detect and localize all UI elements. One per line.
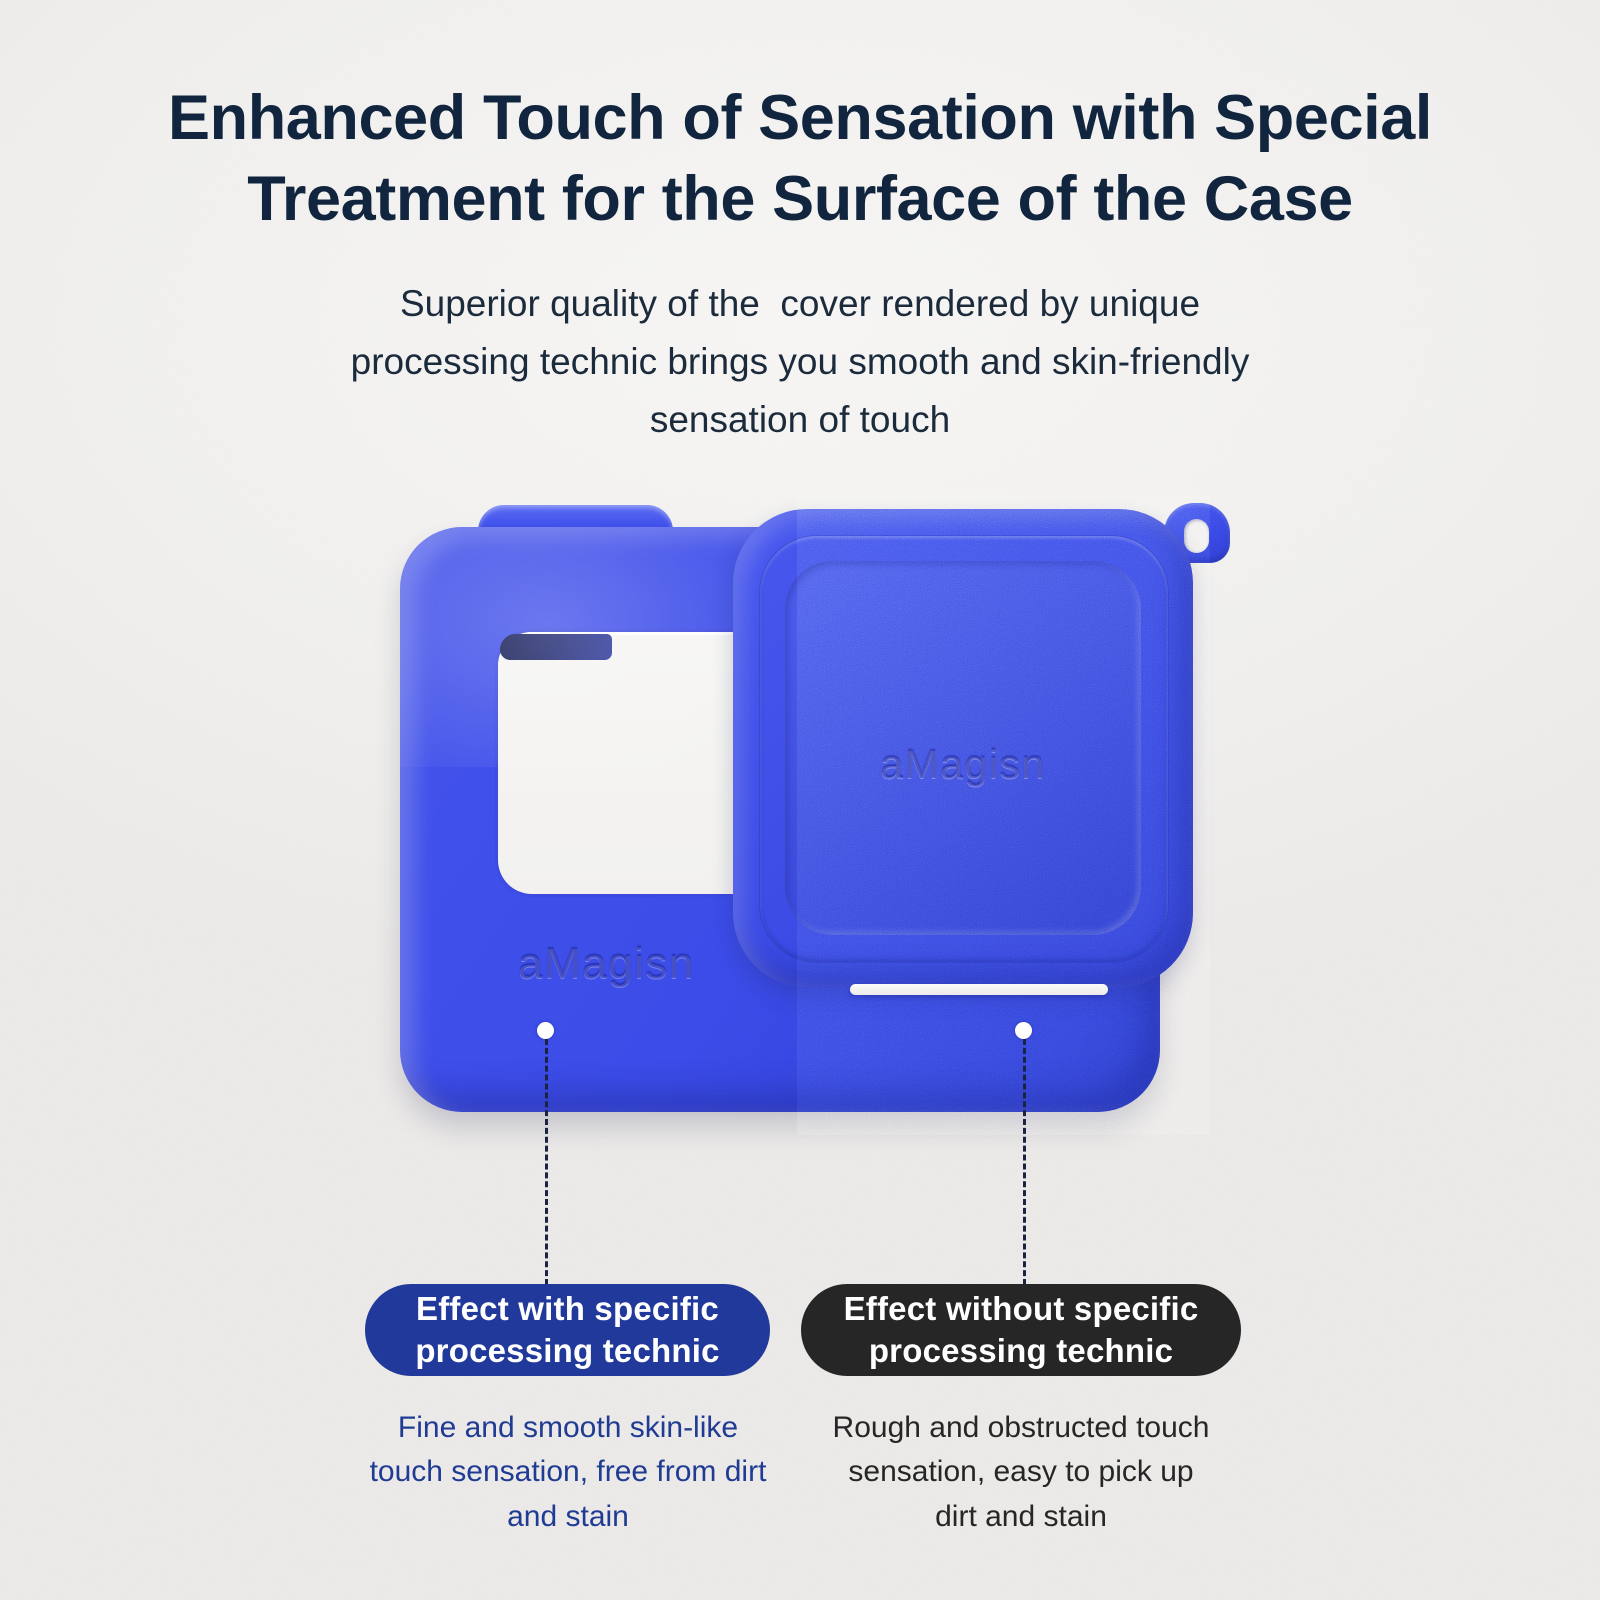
caption-bad-line-3: dirt and stain: [790, 1495, 1252, 1539]
page-subtitle: Superior quality of the cover rendered b…: [210, 275, 1390, 448]
caption-bad-line-1: Rough and obstructed touch: [790, 1406, 1252, 1450]
page-subtitle-line-2: processing technic brings you smooth and…: [210, 333, 1390, 391]
callout-dot-rough: [1015, 1022, 1032, 1039]
caption-good-line-1: Fine and smooth skin-like: [322, 1406, 814, 1450]
callout-line-smooth: [545, 1039, 548, 1285]
caption-smooth-surface: Fine and smooth skin-like touch sensatio…: [322, 1406, 814, 1539]
page-title: Enhanced Touch of Sensation with Special…: [135, 78, 1465, 239]
rough-surface-half: [797, 495, 1210, 1135]
infographic-page: Enhanced Touch of Sensation with Special…: [0, 0, 1600, 1600]
header: Enhanced Touch of Sensation with Special…: [0, 78, 1600, 448]
badge-effect-with-processing[interactable]: Effect with specific processing technic: [365, 1284, 770, 1376]
rough-texture-noise: [797, 495, 1210, 1135]
rough-surface-inner: [797, 495, 1210, 1135]
caption-bad-line-2: sensation, easy to pick up: [790, 1450, 1252, 1494]
product-image: aMagisn aMagisn: [370, 495, 1210, 1135]
cutout-recess-lip: [500, 634, 612, 660]
caption-good-line-2: touch sensation, free from dirt: [322, 1450, 814, 1494]
page-title-line-1: Enhanced Touch of Sensation with Special: [135, 78, 1465, 159]
page-subtitle-line-3: sensation of touch: [210, 391, 1390, 449]
page-title-line-2: Treatment for the Surface of the Case: [135, 159, 1465, 240]
page-subtitle-line-1: Superior quality of the cover rendered b…: [210, 275, 1390, 333]
caption-rough-surface: Rough and obstructed touch sensation, ea…: [790, 1406, 1252, 1539]
badge-good-line-1: Effect with specific: [415, 1288, 719, 1330]
badge-good-line-2: processing technic: [415, 1330, 719, 1372]
callout-line-rough: [1023, 1039, 1026, 1285]
callout-dot-smooth: [537, 1022, 554, 1039]
badge-bad-line-1: Effect without specific: [844, 1288, 1199, 1330]
brand-logo-body: aMagisn: [518, 939, 695, 989]
badge-effect-without-processing[interactable]: Effect without specific processing techn…: [801, 1284, 1241, 1376]
badge-bad-line-2: processing technic: [844, 1330, 1199, 1372]
caption-good-line-3: and stain: [322, 1495, 814, 1539]
